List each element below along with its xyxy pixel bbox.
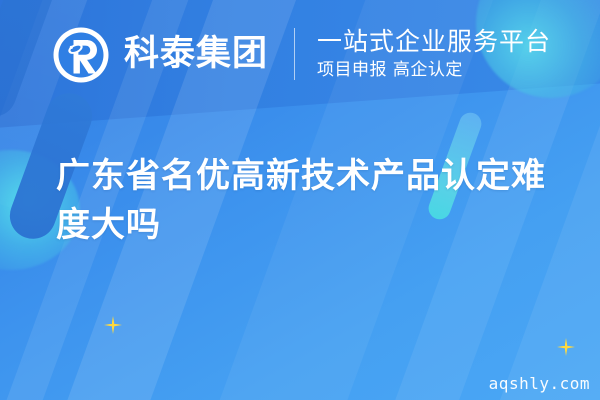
sparkle-icon (557, 338, 575, 356)
ketai-logo-icon (52, 26, 110, 84)
slogan-main: 一站式企业服务平台 (317, 27, 551, 56)
page-title: 广东省名优高新技术产品认定难度大吗 (56, 152, 556, 251)
brand-header: 科泰集团 一站式企业服务平台 项目申报 高企认定 (0, 0, 600, 108)
slogan-block: 一站式企业服务平台 项目申报 高企认定 (317, 27, 551, 82)
slogan-sub: 项目申报 高企认定 (317, 59, 551, 82)
sparkle-icon (104, 316, 122, 334)
site-watermark: aqshly.com (489, 374, 590, 393)
brand-name: 科泰集团 (124, 37, 268, 72)
promo-banner: 科泰集团 一站式企业服务平台 项目申报 高企认定 广东省名优高新技术产品认定难度… (0, 0, 600, 400)
header-divider (294, 28, 295, 80)
